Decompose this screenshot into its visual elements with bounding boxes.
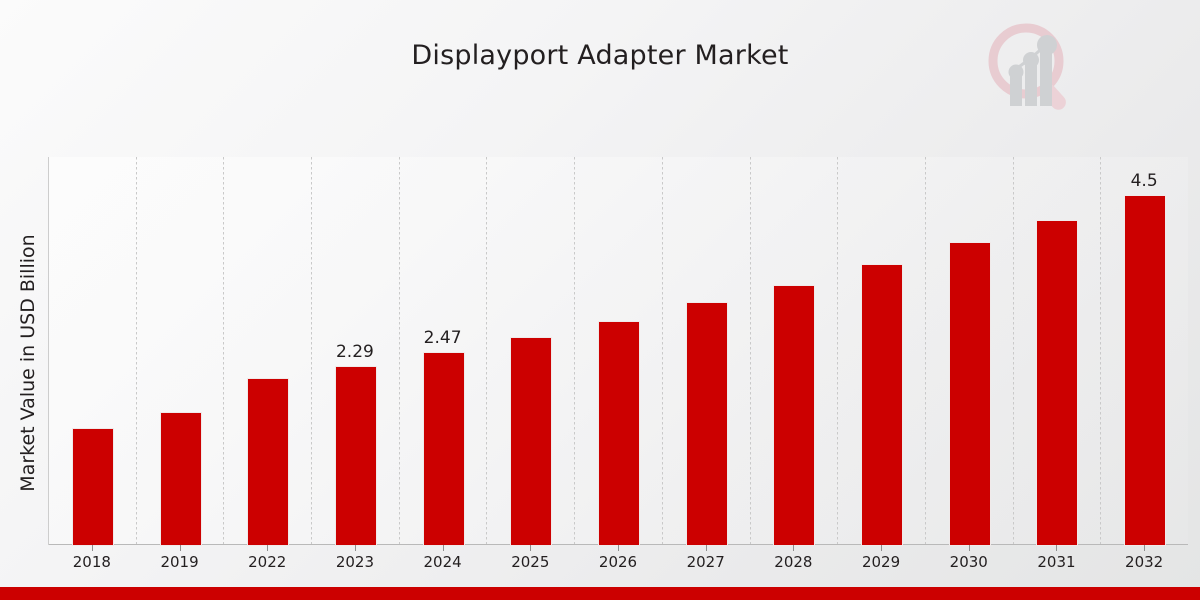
x-tick-label-2023: 2023 (320, 553, 390, 571)
x-tick-label-2029: 2029 (846, 553, 916, 571)
bar-2030[interactable] (949, 242, 991, 546)
x-tick-label-2018: 2018 (57, 553, 127, 571)
y-axis-title: Market Value in USD Billion (17, 163, 39, 563)
bar-2019[interactable] (160, 412, 202, 546)
x-tick-label-2025: 2025 (495, 553, 565, 571)
bar-2031[interactable] (1036, 220, 1078, 546)
bar-value-label-2032: 4.5 (1109, 171, 1179, 191)
bar-2027[interactable] (686, 302, 728, 546)
gridline (750, 157, 751, 544)
bar-2025[interactable] (510, 337, 552, 546)
bar-2024[interactable] (423, 352, 465, 546)
bar-2032[interactable] (1124, 195, 1166, 546)
x-tick-label-2030: 2030 (934, 553, 1004, 571)
tick-mark (969, 545, 970, 551)
x-tick-label-2019: 2019 (145, 553, 215, 571)
tick-mark (180, 545, 181, 551)
gridline (223, 157, 224, 544)
bar-2026[interactable] (598, 321, 640, 546)
chart-figure: Displayport Adapter Market Market Value … (0, 0, 1200, 600)
bar-2018[interactable] (72, 428, 114, 546)
tick-mark (881, 545, 882, 551)
bar-value-label-2023: 2.29 (320, 342, 390, 362)
x-tick-label-2022: 2022 (232, 553, 302, 571)
brand-watermark-logo (978, 16, 1082, 118)
tick-mark (618, 545, 619, 551)
tick-mark (706, 545, 707, 551)
tick-mark (1144, 545, 1145, 551)
tick-mark (355, 545, 356, 551)
x-tick-label-2026: 2026 (583, 553, 653, 571)
x-tick-label-2032: 2032 (1109, 553, 1179, 571)
bar-value-label-2024: 2.47 (408, 328, 478, 348)
tick-mark (1056, 545, 1057, 551)
gridline (1100, 157, 1101, 544)
gridline (925, 157, 926, 544)
x-tick-label-2028: 2028 (758, 553, 828, 571)
bar-2028[interactable] (773, 285, 815, 546)
gridline (662, 157, 663, 544)
gridline (1013, 157, 1014, 544)
gridline (574, 157, 575, 544)
tick-mark (267, 545, 268, 551)
gridline (486, 157, 487, 544)
tick-mark (793, 545, 794, 551)
bar-2029[interactable] (861, 264, 903, 546)
gridline (399, 157, 400, 544)
tick-mark (92, 545, 93, 551)
gridline (136, 157, 137, 544)
bar-2022[interactable] (247, 378, 289, 546)
gridline (311, 157, 312, 544)
tick-mark (443, 545, 444, 551)
x-tick-label-2024: 2024 (408, 553, 478, 571)
x-tick-label-2027: 2027 (671, 553, 741, 571)
footer-band (0, 587, 1200, 600)
x-tick-label-2031: 2031 (1021, 553, 1091, 571)
gridline (837, 157, 838, 544)
bar-2023[interactable] (335, 366, 377, 546)
y-axis-line (48, 157, 49, 545)
tick-mark (530, 545, 531, 551)
